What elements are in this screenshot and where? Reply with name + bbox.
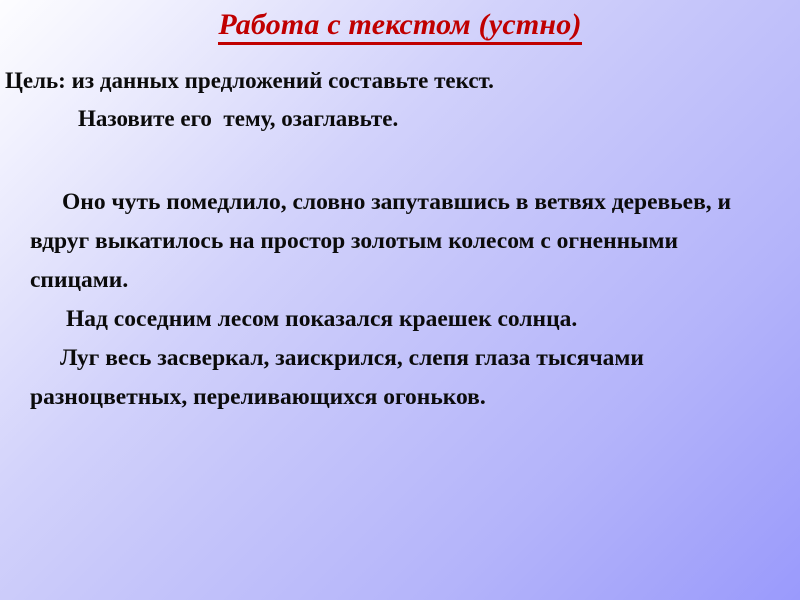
- passage-sentence-2: Над соседним лесом показался краешек сол…: [30, 300, 782, 339]
- slide-canvas: Работа с текстом (устно) Цель: из данных…: [0, 0, 800, 600]
- goal-instruction-line: Назовите его тему, озаглавьте.: [0, 100, 800, 138]
- passage-sentence-1: Оно чуть помедлило, словно запутавшись в…: [30, 183, 782, 300]
- slide-title-block: Работа с текстом (устно): [0, 8, 800, 45]
- goal-block: Цель: из данных предложений составьте те…: [0, 62, 800, 138]
- text-passage-block: Оно чуть помедлило, словно запутавшись в…: [30, 183, 782, 417]
- page-title: Работа с текстом (устно): [218, 8, 581, 45]
- goal-statement-line: Цель: из данных предложений составьте те…: [0, 62, 800, 100]
- passage-sentence-3: Луг весь засверкал, заискрился, слепя гл…: [30, 339, 782, 417]
